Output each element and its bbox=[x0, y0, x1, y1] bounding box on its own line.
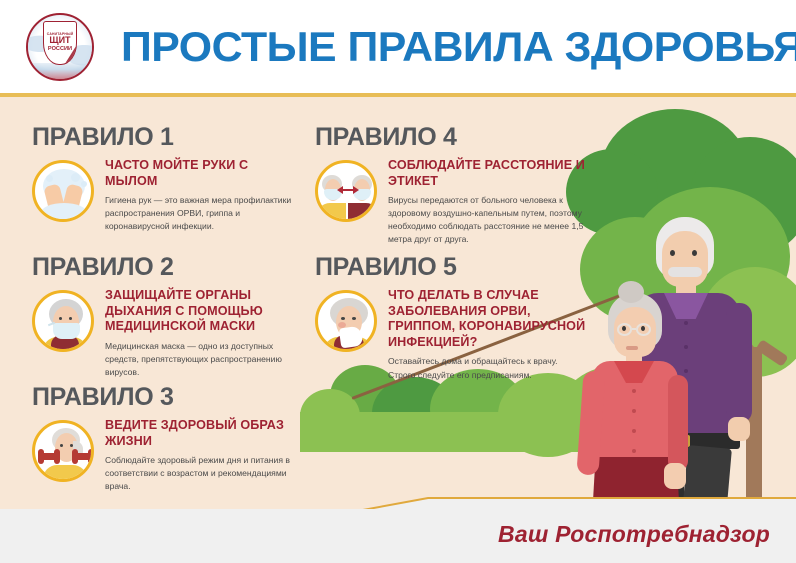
dumbbell-right-weight-2 bbox=[88, 449, 94, 464]
woman-hand-right bbox=[664, 463, 686, 489]
man-button-3 bbox=[684, 369, 688, 373]
woman-button-3 bbox=[632, 429, 636, 433]
footer-signature: Ваш Роспотребнадзор bbox=[498, 521, 770, 548]
rule-3-description: Соблюдайте здоровый режим дня и питания … bbox=[105, 454, 294, 493]
rule-block-3: ПРАВИЛО 3 ВЕДИТЕ ЗДОРОВЫ bbox=[32, 385, 294, 493]
rule-2-title: ЗАЩИЩАЙТЕ ОРГАНЫ ДЫХАНИЯ С ПОМОЩЬЮ МЕДИЦ… bbox=[105, 288, 294, 335]
man-eye-left bbox=[670, 250, 675, 256]
bubble-3 bbox=[46, 175, 53, 182]
woman-button-1 bbox=[632, 389, 636, 393]
bubble-2 bbox=[81, 181, 87, 187]
soap-foam-bottom bbox=[41, 203, 87, 222]
rule-5-description: Оставайтесь дома и обращайтесь к врачу. … bbox=[388, 355, 587, 381]
distance-arrow bbox=[342, 189, 354, 191]
woman-glasses-bridge bbox=[632, 328, 636, 330]
rule-block-4: ПРАВИЛО 4 СОБЛЮДАЙТЕ РАССТОЯНИЕ И ЭТИКЕТ… bbox=[315, 125, 587, 246]
poster-footer: Ваш Роспотребнадзор bbox=[0, 509, 796, 563]
man-hand-right bbox=[728, 417, 750, 441]
rule-2-kicker: ПРАВИЛО 2 bbox=[32, 255, 294, 280]
tshirt bbox=[43, 465, 87, 482]
dumbbell-right-weight-1 bbox=[72, 449, 78, 464]
washing-hands-icon bbox=[32, 160, 94, 222]
woman-mouth bbox=[626, 346, 638, 350]
shield-icon: САНИТАРНЫЙ ЩИТ РОССИИ bbox=[43, 21, 77, 65]
sanitary-shield-of-russia-emblem-icon: САНИТАРНЫЙ ЩИТ РОССИИ bbox=[21, 8, 99, 86]
page-title: ПРОСТЫЕ ПРАВИЛА ЗДОРОВЬЯ bbox=[121, 26, 796, 68]
rule-3-title: ВЕДИТЕ ЗДОРОВЫЙ ОБРАЗ ЖИЗНИ bbox=[105, 418, 294, 449]
rule-block-5: ПРАВИЛО 5 ЧТО ДЕЛАТЬ В СЛУЧАЕ ЗАБОЛЕВАНИ… bbox=[315, 255, 587, 382]
rule-5-kicker: ПРАВИЛО 5 bbox=[315, 255, 587, 280]
eye-left bbox=[341, 317, 345, 320]
woman-eye-left bbox=[622, 326, 626, 331]
dumbbell-left-weight-1 bbox=[38, 449, 44, 464]
dumbbell-left-weight-2 bbox=[54, 449, 60, 464]
woman-arm-right bbox=[668, 375, 688, 471]
social-distance-icon bbox=[315, 160, 377, 222]
eye-left bbox=[60, 444, 63, 447]
man-face bbox=[662, 231, 708, 287]
woman-eye-right bbox=[641, 326, 645, 331]
rule-4-kicker: ПРАВИЛО 4 bbox=[315, 125, 587, 150]
rule-4-title: СОБЛЮДАЙТЕ РАССТОЯНИЕ И ЭТИКЕТ bbox=[388, 158, 587, 189]
rule-1-title: ЧАСТО МОЙТЕ РУКИ С МЫЛОМ bbox=[105, 158, 294, 189]
health-rules-poster: САНИТАРНЫЙ ЩИТ РОССИИ ПРОСТЫЕ ПРАВИЛА ЗД… bbox=[0, 0, 796, 563]
shield-line-2: ЩИТ bbox=[49, 36, 70, 45]
poster-body: ПРАВИЛО 1 ЧАСТО МОЙТЕ РУКИ С МЫЛОМ Гигие… bbox=[0, 97, 796, 509]
sick-person-tissue-icon bbox=[315, 290, 377, 352]
woman-hair-bun bbox=[618, 281, 644, 303]
rule-4-description: Вирусы передаются от больного человека к… bbox=[388, 194, 587, 246]
woman-button-4 bbox=[632, 449, 636, 453]
man-eye-right bbox=[692, 250, 697, 256]
man-button-1 bbox=[684, 321, 688, 325]
rule-5-title: ЧТО ДЕЛАТЬ В СЛУЧАЕ ЗАБОЛЕВАНИЯ ОРВИ, ГР… bbox=[388, 288, 587, 350]
person-left-body bbox=[316, 203, 346, 222]
rule-2-description: Медицинская маска — одно из доступных ср… bbox=[105, 340, 294, 379]
man-mustache bbox=[668, 267, 702, 277]
rule-1-kicker: ПРАВИЛО 1 bbox=[32, 125, 294, 150]
rule-block-1: ПРАВИЛО 1 ЧАСТО МОЙТЕ РУКИ С МЫЛОМ Гигие… bbox=[32, 125, 294, 233]
man-arm-right bbox=[726, 303, 752, 423]
bubble-1 bbox=[71, 173, 80, 182]
globe-band bbox=[28, 63, 92, 79]
rule-block-2: ПРАВИЛО 2 ЗАЩИЩАЙТЕ ОРГАНЫ ДЫХАНИЯ С ПОМ… bbox=[32, 255, 294, 379]
woman-button-2 bbox=[632, 409, 636, 413]
exercise-dumbbells-icon bbox=[32, 420, 94, 482]
rule-3-kicker: ПРАВИЛО 3 bbox=[32, 385, 294, 410]
man-button-2 bbox=[684, 345, 688, 349]
eye-left bbox=[59, 317, 62, 320]
medical-mask bbox=[53, 323, 80, 339]
eye-right bbox=[69, 317, 72, 320]
poster-header: САНИТАРНЫЙ ЩИТ РОССИИ ПРОСТЫЕ ПРАВИЛА ЗД… bbox=[0, 0, 796, 97]
shield-line-3: РОССИИ bbox=[48, 46, 72, 52]
rule-1-description: Гигиена рук — это важная мера профилакти… bbox=[105, 194, 294, 233]
person-wearing-mask-icon bbox=[32, 290, 94, 352]
person-right-body bbox=[348, 203, 377, 222]
eye-right bbox=[352, 317, 356, 320]
